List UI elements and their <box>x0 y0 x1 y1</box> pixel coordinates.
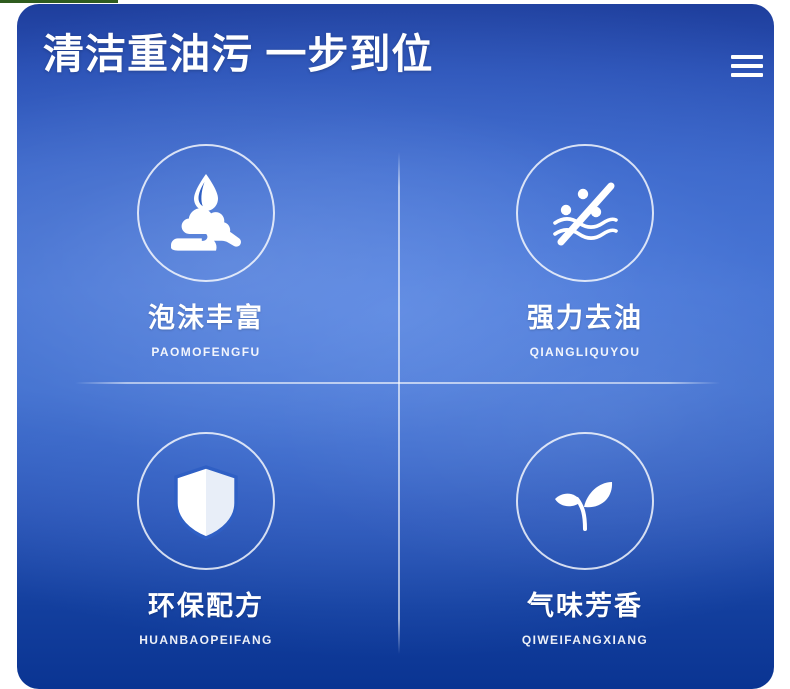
menu-bar-middle <box>731 64 763 68</box>
feature-grid: 泡沫丰富 PAOMOFENGFU <box>17 116 774 689</box>
top-edge-strip <box>0 0 118 3</box>
feature-item-eco-formula[interactable]: 环保配方 HUANBAOPEIFANG <box>17 404 395 689</box>
feature-title: 气味芳香 <box>527 592 643 622</box>
feature-item-fragrance[interactable]: 气味芳香 QIWEIFANGXIANG <box>396 404 774 689</box>
page-title: 清洁重油污 一步到位 <box>43 29 433 79</box>
sprout-leaf-icon <box>516 432 654 570</box>
feature-title: 环保配方 <box>148 592 264 622</box>
feature-title: 强力去油 <box>527 304 643 334</box>
hand-foam-droplet-icon <box>137 144 275 282</box>
feature-subtitle: QIWEIFANGXIANG <box>522 633 648 647</box>
feature-subtitle: QIANGLIQUYOU <box>530 345 641 359</box>
shield-icon <box>137 432 275 570</box>
promo-panel: 清洁重油污 一步到位 <box>17 4 774 689</box>
promo-header: 清洁重油污 一步到位 <box>17 4 774 116</box>
feature-item-foam[interactable]: 泡沫丰富 PAOMOFENGFU <box>17 116 395 402</box>
menu-bar-top <box>731 55 763 59</box>
no-oil-slash-icon <box>516 144 654 282</box>
feature-subtitle: HUANBAOPEIFANG <box>139 633 273 647</box>
hamburger-menu-icon[interactable] <box>726 50 768 82</box>
feature-subtitle: PAOMOFENGFU <box>151 345 260 359</box>
promo-banner-stage: 清洁重油污 一步到位 <box>0 0 790 689</box>
menu-bar-bottom <box>731 73 763 77</box>
feature-item-degrease[interactable]: 强力去油 QIANGLIQUYOU <box>396 116 774 402</box>
feature-title: 泡沫丰富 <box>148 304 264 334</box>
